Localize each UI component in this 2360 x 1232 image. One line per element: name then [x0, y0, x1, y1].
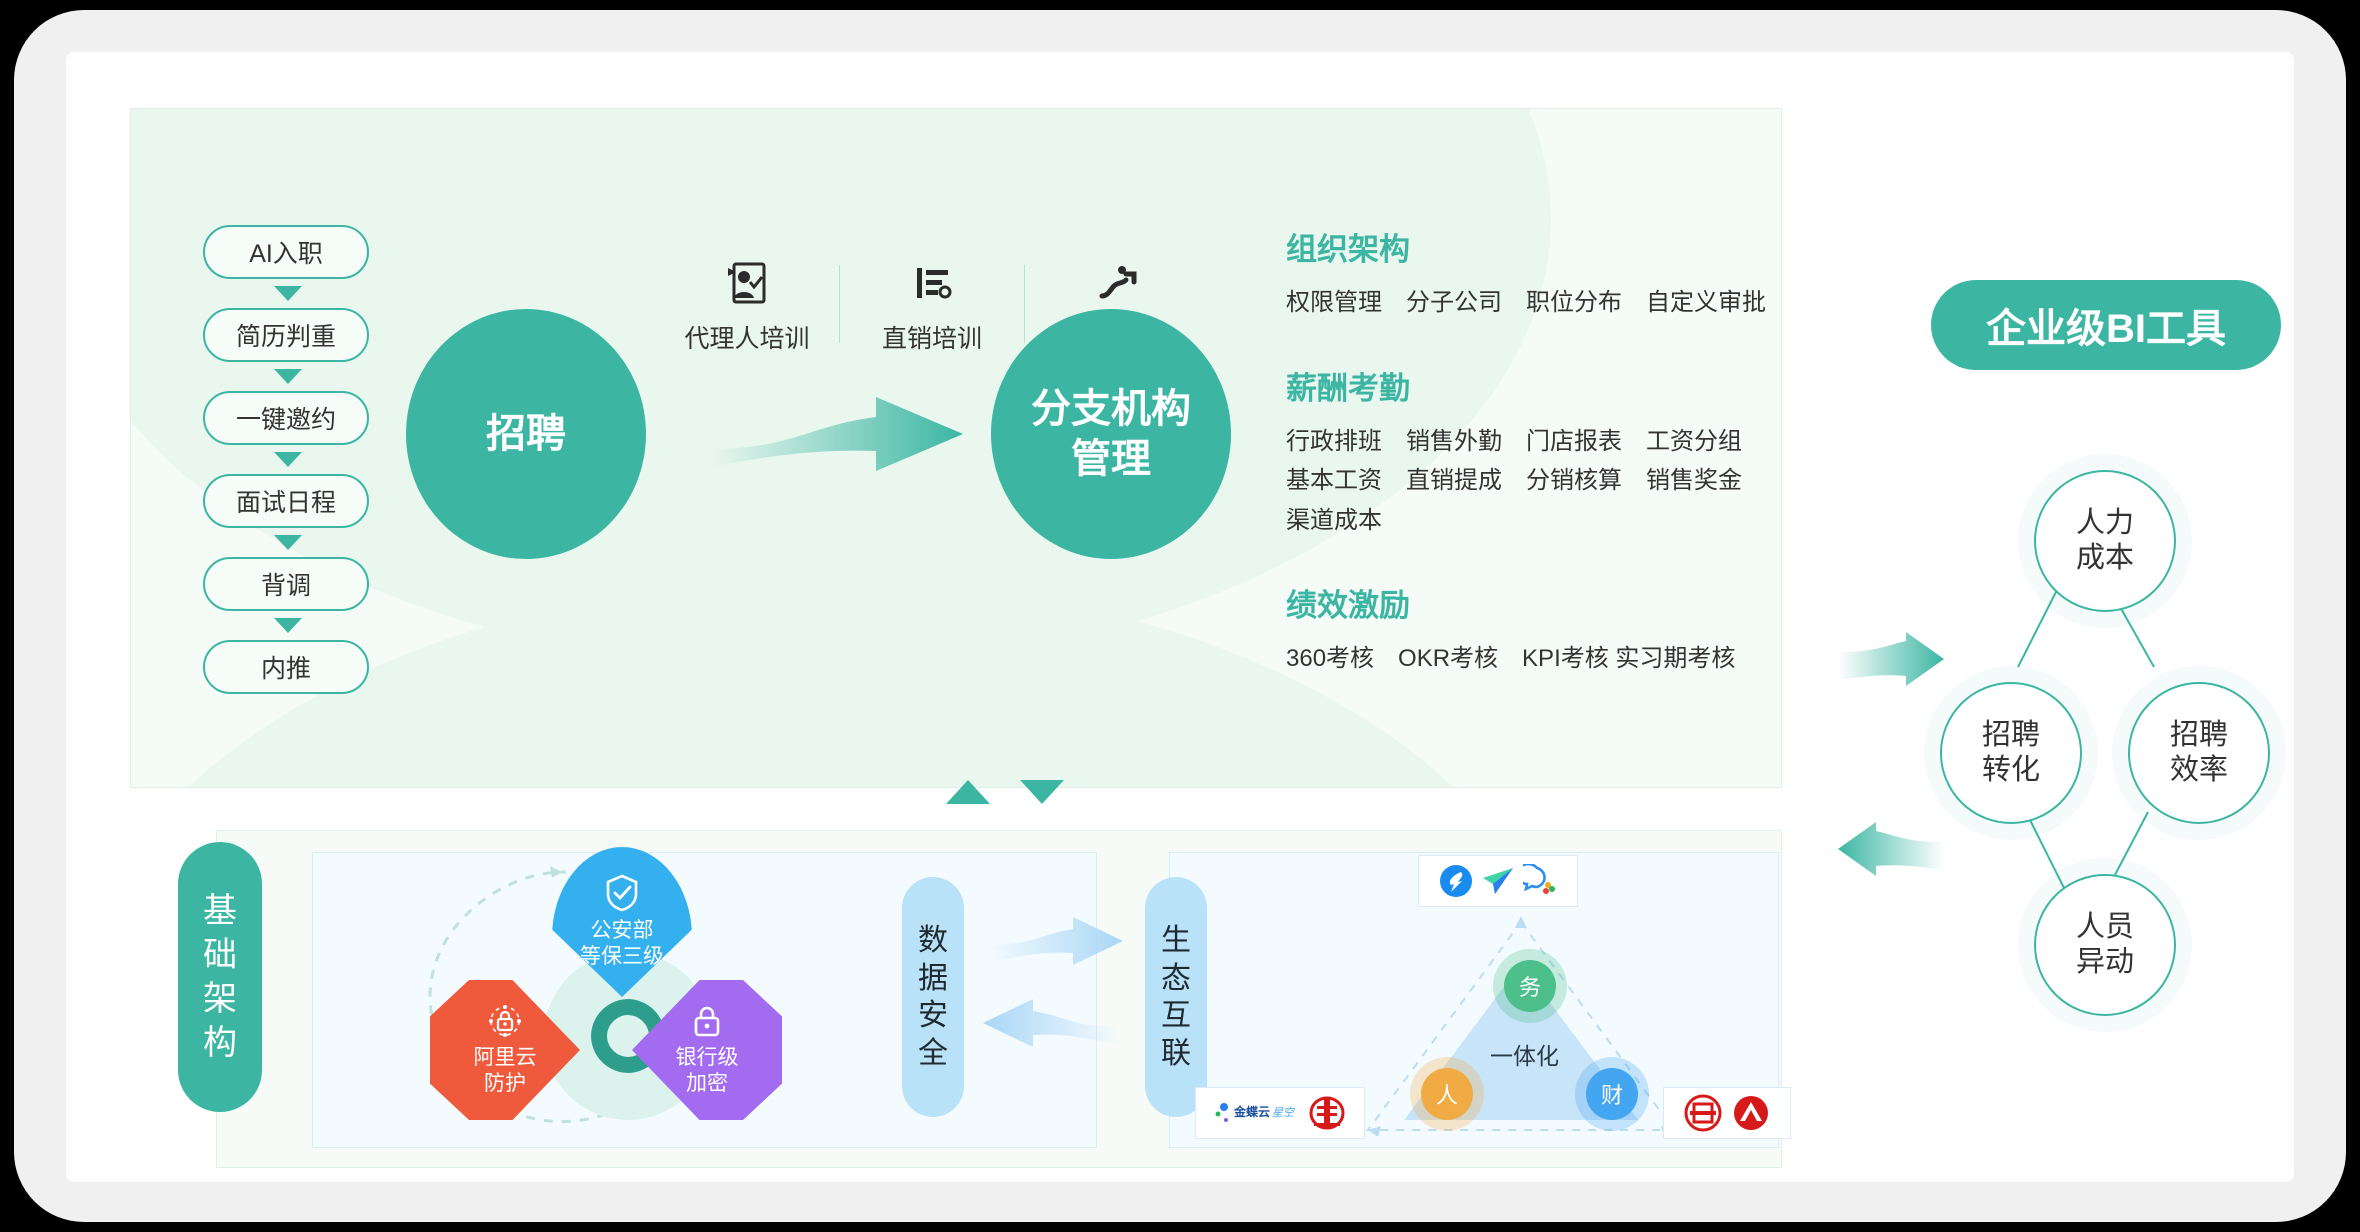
node-label: 人	[1436, 1078, 1458, 1110]
feature-heading: 组织架构	[1286, 224, 1746, 269]
svg-text:金蝶云: 金蝶云	[1233, 1104, 1270, 1119]
flow-step-label: 内推	[261, 649, 311, 685]
pill-char: 互	[1161, 997, 1191, 1035]
shield-check-icon	[605, 874, 639, 912]
svg-text:星空: 星空	[1272, 1106, 1296, 1119]
triangle-up-icon	[946, 780, 990, 804]
pill-char: 态	[1161, 960, 1191, 998]
eco-logo-box-top	[1418, 855, 1578, 907]
flow-arrow-icon	[274, 535, 302, 550]
bi-node-label-1: 人力	[2076, 506, 2134, 541]
arch-tag-char: 构	[203, 1021, 237, 1065]
bi-node-recruit-efficiency[interactable]: 招聘 效率	[2128, 682, 2270, 824]
pill-char: 联	[1161, 1035, 1191, 1073]
arch-tag-char: 础	[203, 933, 237, 977]
eco-logo-box-bottom-right	[1663, 1087, 1791, 1139]
kingdee-cloud-logo: 金蝶云 星空	[1214, 1098, 1300, 1128]
flow-step-background-check[interactable]: 背调	[203, 557, 369, 611]
triangle-node-finance[interactable]: 财	[1586, 1068, 1638, 1120]
bi-node-label-2: 转化	[1982, 753, 2040, 788]
bi-node-label-1: 招聘	[1982, 718, 2040, 753]
flow-step-label: 背调	[261, 566, 311, 602]
bi-node-label-2: 效率	[2170, 753, 2228, 788]
bi-node-label-1: 人员	[2076, 910, 2134, 945]
feature-heading: 绩效激励	[1286, 580, 1746, 625]
pill-char: 安	[918, 997, 948, 1035]
agent-training-icon	[671, 259, 823, 309]
recruit-circle[interactable]: 招聘	[406, 309, 646, 559]
pill-char: 全	[918, 1035, 948, 1073]
feature-line: 权限管理 分子公司 职位分布 自定义审批	[1286, 283, 1746, 323]
cmb-bank-logo	[1731, 1093, 1771, 1133]
icbc-bank-logo	[1683, 1093, 1723, 1133]
bi-node-staff-turnover[interactable]: 人员 异动	[2034, 874, 2176, 1016]
training-item-direct[interactable]: 直销培训	[856, 259, 1008, 355]
triangle-node-service[interactable]: 务	[1504, 960, 1556, 1012]
bi-node-label-1: 招聘	[2170, 718, 2228, 753]
screen: AI入职 简历判重 一键邀约 面试日程 背调 内推 代理人培训	[66, 52, 2294, 1182]
triangle-down-icon	[1020, 780, 1064, 804]
panel-connector	[946, 780, 1064, 804]
pill-char: 数	[918, 922, 948, 960]
branch-circle-label-1: 分支机构	[1031, 384, 1191, 434]
device-frame: AI入职 简历判重 一键邀约 面试日程 背调 内推 代理人培训	[14, 10, 2346, 1222]
arrow-right-icon	[986, 917, 1123, 965]
flow-step-one-click-invite[interactable]: 一键邀约	[203, 391, 369, 445]
feature-line: 行政排班 销售外勤 门店报表 工资分组	[1286, 422, 1746, 462]
feature-line: 渠道成本	[1286, 501, 1746, 541]
drop-label-1: 公安部	[591, 918, 654, 944]
flow-arrow-icon	[274, 452, 302, 467]
feature-line: 基本工资 直销提成 分销核算 销售奖金	[1286, 461, 1746, 501]
divider	[839, 265, 840, 343]
arch-tag-char: 基	[203, 889, 237, 933]
ecosystem-pill[interactable]: 生 态 互 联	[1145, 877, 1207, 1117]
branch-management-circle[interactable]: 分支机构 管理	[991, 309, 1231, 559]
cloud-lock-icon	[487, 1003, 523, 1039]
feature-block-org: 组织架构 权限管理 分子公司 职位分布 自定义审批	[1286, 224, 1746, 323]
flow-step-interview-schedule[interactable]: 面试日程	[203, 474, 369, 528]
direct-sales-training-icon	[856, 259, 1008, 309]
flow-step-ai-onboard[interactable]: AI入职	[203, 225, 369, 279]
arch-tag-char: 架	[203, 977, 237, 1021]
drop-label-2: 加密	[686, 1071, 728, 1097]
flow-arrow-icon	[274, 618, 302, 633]
flow-arrow-icon	[274, 369, 302, 384]
bi-tool-title: 企业级BI工具	[1931, 280, 2281, 370]
flow-step-referral[interactable]: 内推	[203, 640, 369, 694]
divider	[1024, 265, 1025, 343]
drop-label-1: 银行级	[676, 1045, 739, 1071]
training-item-label: 直销培训	[856, 319, 1008, 355]
architecture-tag: 基 础 架 构	[178, 842, 262, 1112]
wecom-plane-icon	[1481, 864, 1515, 898]
node-label: 财	[1601, 1078, 1623, 1110]
data-security-pill[interactable]: 数 据 安 全	[902, 877, 964, 1117]
drop-label-2: 等保三级	[580, 944, 664, 970]
feature-block-payroll: 薪酬考勤 行政排班 销售外勤 门店报表 工资分组 基本工资 直销提成 分销核算 …	[1286, 363, 1746, 541]
feature-list: 组织架构 权限管理 分子公司 职位分布 自定义审批 薪酬考勤 行政排班 销售外勤…	[1286, 224, 1746, 719]
drop-label-2: 防护	[484, 1071, 526, 1097]
pill-char: 据	[918, 960, 948, 998]
bi-node-hr-cost[interactable]: 人力 成本	[2034, 470, 2176, 612]
feature-block-performance: 绩效激励 360考核 OKR考核 KPI考核 实习期考核	[1286, 580, 1746, 679]
bi-node-label-2: 成本	[2076, 541, 2134, 576]
hr-overview-panel: AI入职 简历判重 一键邀约 面试日程 背调 内推 代理人培训	[130, 108, 1782, 788]
bi-node-label-2: 异动	[2076, 945, 2134, 980]
triangle-center-label: 一体化	[1490, 1037, 1559, 1071]
flow-step-label: 面试日程	[236, 483, 336, 519]
flow-step-label: AI入职	[249, 234, 323, 270]
training-item-agent[interactable]: 代理人培训	[671, 259, 823, 355]
dingtalk-icon	[1439, 864, 1473, 898]
flow-step-resume-dedupe[interactable]: 简历判重	[203, 308, 369, 362]
chat-bubble-icon	[1523, 864, 1557, 898]
node-label: 务	[1519, 970, 1541, 1002]
drop-label-1: 阿里云	[474, 1045, 537, 1071]
flow-step-label: 简历判重	[236, 317, 336, 353]
flow-arrow-right-icon	[701, 389, 971, 479]
branch-circle-label-2: 管理	[1031, 434, 1191, 484]
flow-step-label: 一键邀约	[236, 400, 336, 436]
flow-arrow-icon	[274, 286, 302, 301]
feature-line: 360考核 OKR考核 KPI考核 实习期考核	[1286, 639, 1746, 679]
bi-title-label: 企业级BI工具	[1986, 296, 2226, 354]
recruit-circle-label: 招聘	[486, 409, 566, 459]
feature-heading: 薪酬考勤	[1286, 363, 1746, 408]
bi-node-recruit-conversion[interactable]: 招聘 转化	[1940, 682, 2082, 824]
bidirectional-arrows	[978, 917, 1128, 1077]
eco-logo-box-bottom-left: 金蝶云 星空	[1195, 1087, 1365, 1139]
pill-char: 生	[1161, 922, 1191, 960]
training-item-label: 代理人培训	[671, 319, 823, 355]
talent-pipeline-icon	[1041, 259, 1193, 309]
integration-triangle	[1356, 902, 1686, 1142]
recruiting-flow: AI入职 简历判重 一键邀约 面试日程 背调 内推	[203, 225, 373, 694]
lock-icon	[691, 1003, 723, 1039]
triangle-node-people[interactable]: 人	[1421, 1068, 1473, 1120]
tax-bureau-logo	[1308, 1094, 1346, 1132]
arrow-left-icon	[983, 999, 1120, 1047]
